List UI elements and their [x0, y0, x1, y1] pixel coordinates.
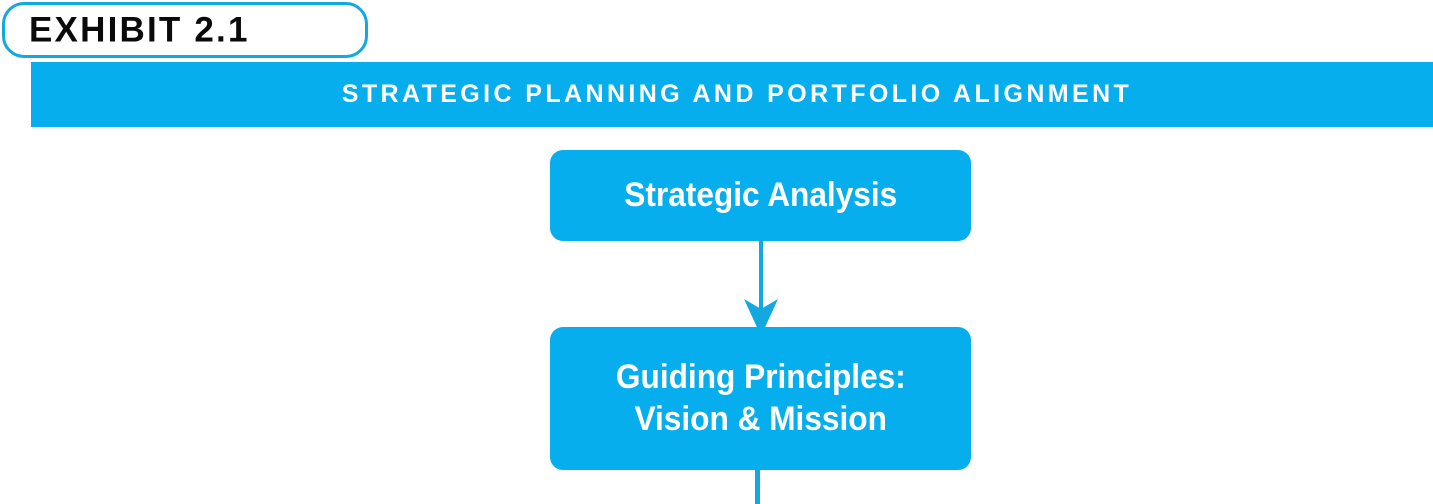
flow-node-strategic-analysis[interactable]: Strategic Analysis	[550, 150, 971, 241]
flow-node-guiding-principles[interactable]: Guiding Principles: Vision & Mission	[550, 327, 971, 470]
exhibit-label-badge: EXHIBIT 2.1	[2, 2, 368, 58]
connector-arrow-strategic-analysis-to-guiding-principles	[735, 237, 787, 337]
exhibit-title-banner: STRATEGIC PLANNING AND PORTFOLIO ALIGNME…	[31, 62, 1433, 127]
exhibit-label-text: EXHIBIT 2.1	[29, 13, 250, 48]
flow-node-label: Strategic Analysis	[624, 175, 897, 216]
flowchart: Strategic Analysis Guiding Principles: V…	[0, 127, 1433, 504]
connector-line-guiding-principles-to-next	[755, 467, 760, 504]
flow-node-label-line-2: Vision & Mission	[634, 399, 886, 440]
exhibit-title-text: STRATEGIC PLANNING AND PORTFOLIO ALIGNME…	[332, 82, 1132, 107]
flow-node-label-line-1: Guiding Principles:	[616, 357, 906, 398]
exhibit-page: { "exhibit": { "label": "EXHIBIT 2.1", "…	[0, 0, 1433, 504]
